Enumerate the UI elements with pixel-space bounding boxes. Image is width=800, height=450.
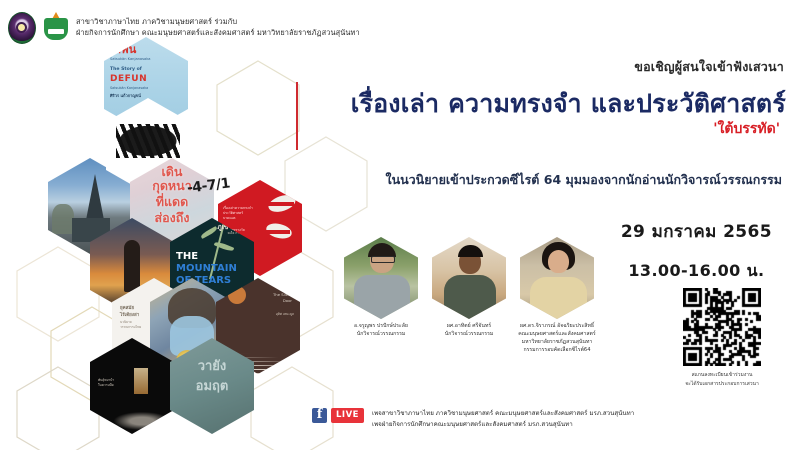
speaker-role: นักวิจารณ์วรรณกรรม	[428, 330, 510, 338]
speaker-name: ผศ.ดร.จิราภรณ์ อัจฉริยะประสิทธิ์	[516, 322, 598, 330]
event-date: 29 มกราคม 2565	[621, 218, 772, 245]
book-sub-en: Satsukân Kanjanasaka	[110, 87, 182, 91]
speaker-card-1: อ.จรูญพร ปรปักษ์ประลัย นักวิจารณ์วรรณกรร…	[344, 237, 424, 338]
speaker-photo-1	[344, 237, 418, 319]
red-vertical-rule	[296, 82, 298, 150]
footer: LIVE เพจสาขาวิชาภาษาไทย ภาควิชามนุษยศาสต…	[312, 408, 634, 430]
organizer-lines: สาขาวิชาภาษาไทย ภาควิชามนุษยศาสตร์ ร่วมก…	[76, 12, 360, 39]
event-datetime: 29 มกราคม 2565 13.00-16.00 น.	[621, 218, 772, 284]
hex-outline	[16, 366, 100, 450]
book-cover-collage: เดฟั่น Satsukân Kanjanasaka The Story of…	[0, 40, 314, 450]
invite-line: ขอเชิญผู้สนใจเข้าฟังเสวนา	[634, 57, 784, 77]
seminar-poster: สาขาวิชาภาษาไทย ภาควิชามนุษยศาสตร์ ร่วมก…	[0, 0, 800, 450]
speaker-card-2: ผศ.อาทิตย์ ศรีจันทร์ นักวิจารณ์วรรณกรรม	[432, 237, 512, 338]
organizer-line-1: สาขาวิชาภาษาไทย ภาควิชามนุษยศาสตร์ ร่วมก…	[76, 16, 360, 27]
footer-captions: เพจสาขาวิชาภาษาไทย ภาควิชามนุษยศาสตร์ คณ…	[368, 408, 634, 430]
live-badge: LIVE	[331, 408, 364, 423]
speaker-caption-2: ผศ.อาทิตย์ ศรีจันทร์ นักวิจารณ์วรรณกรรม	[428, 322, 510, 338]
speaker-name: ผศ.อาทิตย์ ศรีจันทร์	[428, 322, 510, 330]
organizer-line-2: ฝ่ายกิจการนักศึกษา คณะมนุษยศาสตร์และสังค…	[76, 27, 360, 38]
thai-language-program-logo-icon	[42, 12, 70, 42]
speaker-list: อ.จรูญพร ปรปักษ์ประลัย นักวิจารณ์วรรณกรร…	[344, 237, 614, 352]
registration-qr-code[interactable]	[683, 288, 761, 366]
book-title-en-1: THE	[176, 252, 248, 263]
speaker-card-3: ผศ.ดร.จิราภรณ์ อัจฉริยะประสิทธิ์ คณะมนุษ…	[520, 237, 600, 354]
book-title-th: เดฟั่น	[110, 44, 182, 56]
speaker-role: นักวิจารณ์วรรณกรรม	[340, 330, 422, 338]
facebook-icon[interactable]	[312, 408, 327, 423]
book-author-th: อุทิศ เหมะมูล	[276, 312, 294, 317]
qr-caption-line-2: จะได้รับเอกสารประกอบการเสวนา	[667, 380, 777, 389]
event-time: 13.00-16.00 น.	[621, 259, 772, 284]
book-title-en: DEFUN	[110, 75, 182, 84]
speaker-photo-3	[520, 237, 594, 319]
speaker-caption-3: ผศ.ดร.จิราภรณ์ อัจฉริยะประสิทธิ์ คณะมนุษ…	[516, 322, 598, 354]
speaker-affiliation-2: มหาวิทยาลัยราชภัฏสวนสุนันทา	[516, 338, 598, 346]
speaker-caption-1: อ.จรูญพร ปรปักษ์ประลัย นักวิจารณ์วรรณกรร…	[340, 322, 422, 338]
page-subtitle: ในนวนิยายเข้าประกวดซีไรต์ 64 มุมมองจากนั…	[385, 170, 782, 190]
speaker-role: กรรมการรอบคัดเลือกซีไรต์64	[516, 346, 598, 354]
book-subtitle-th: Satsukân Kanjanasaka	[110, 58, 182, 62]
speaker-affiliation-1: คณะมนุษยศาสตร์และสังคมศาสตร์	[516, 330, 598, 338]
footer-line-2: เพจฝ่ายกิจการนักศึกษาคณะมนุษยศาสตร์และสั…	[372, 420, 634, 431]
qr-caption: สแกนลงทะเบียนเข้าร่วมงาน จะได้รับเอกสารป…	[667, 371, 777, 388]
qr-section: สแกนลงทะเบียนเข้าร่วมงาน จะได้รับเอกสารป…	[683, 288, 777, 388]
footer-line-1: เพจสาขาวิชาภาษาไทย ภาควิชามนุษยศาสตร์ คณ…	[372, 409, 634, 420]
speaker-name: อ.จรูญพร ปรปักษ์ประลัย	[340, 322, 422, 330]
speaker-photo-2	[432, 237, 506, 319]
book-line-en-top: The Story of	[110, 68, 182, 73]
page-title-sub: 'ใต้บรรทัด'	[713, 118, 780, 140]
qr-caption-line-1: สแกนลงทะเบียนเข้าร่วมงาน	[667, 371, 777, 380]
book-author-th: ศิริวร แก้วกาญจน์	[110, 94, 182, 98]
book-title-en-2: MOUNTAIN	[176, 264, 248, 275]
